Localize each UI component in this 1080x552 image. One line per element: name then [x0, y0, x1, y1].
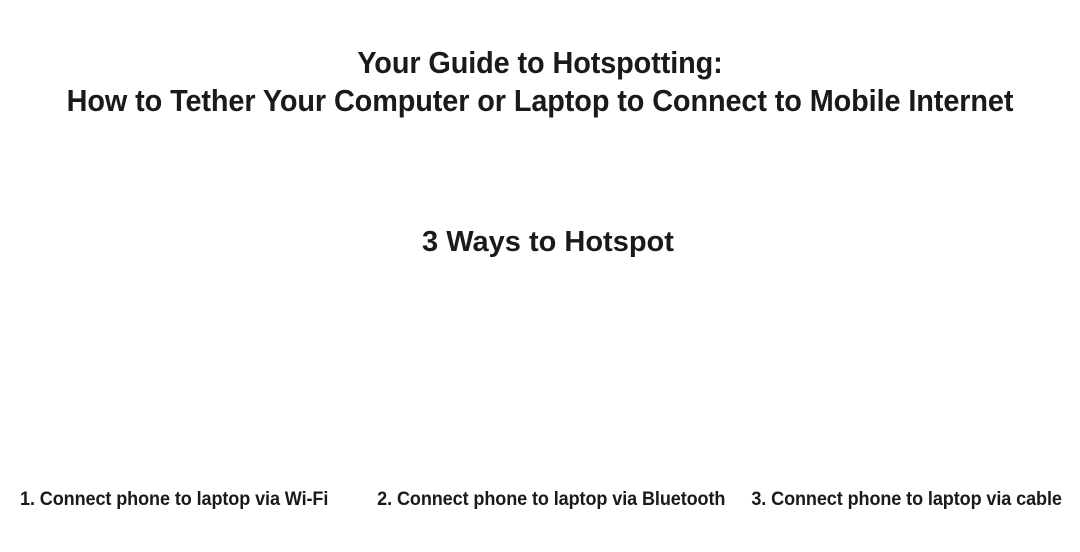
caption-cell-bluetooth: 2. Connect phone to laptop via Bluetooth	[360, 487, 720, 513]
infographic-page: Your Guide to Hotspotting: How to Tether…	[0, 0, 1080, 552]
caption-label-wifi: 1. Connect phone to laptop via Wi-Fi	[20, 487, 328, 513]
page-title-line-2: How to Tether Your Computer or Laptop to…	[38, 82, 1042, 120]
illustration-slot-bluetooth	[360, 286, 720, 476]
section-heading: 3 Ways to Hotspot	[0, 224, 1080, 260]
caption-cell-wifi: 1. Connect phone to laptop via Wi-Fi	[0, 487, 360, 513]
illustration-slot-wifi	[0, 286, 360, 476]
caption-row: 1. Connect phone to laptop via Wi-Fi 2. …	[0, 487, 1080, 513]
illustration-slot-cable	[720, 286, 1080, 476]
caption-label-cable: 3. Connect phone to laptop via cable	[751, 487, 1062, 513]
caption-cell-cable: 3. Connect phone to laptop via cable	[720, 487, 1080, 513]
caption-label-bluetooth: 2. Connect phone to laptop via Bluetooth	[377, 487, 725, 513]
section-heading-label: 3 Ways to Hotspot	[406, 224, 674, 260]
illustration-row	[0, 286, 1080, 476]
page-title-line-1: Your Guide to Hotspotting:	[38, 44, 1042, 82]
page-title: Your Guide to Hotspotting: How to Tether…	[0, 44, 1080, 120]
